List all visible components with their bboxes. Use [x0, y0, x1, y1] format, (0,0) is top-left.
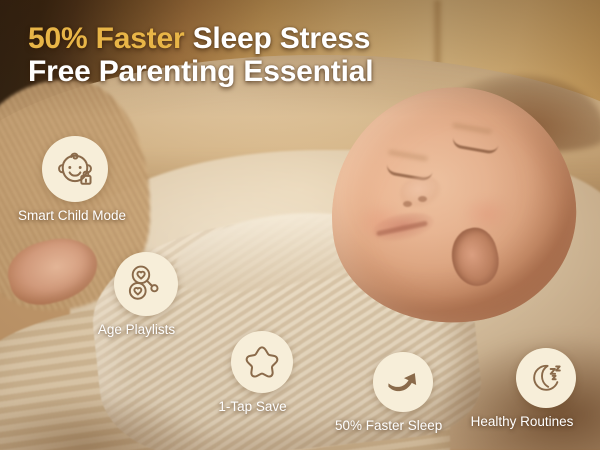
- feature-label: 50% Faster Sleep: [335, 418, 442, 433]
- feature-label: Healthy Routines: [468, 414, 576, 429]
- headline-highlight: 50% Faster: [28, 22, 184, 55]
- product-feature-banner: 50% Faster Sleep Stress Free Parenting E…: [0, 0, 600, 450]
- feature-age-playlists[interactable]: Age Playlists: [95, 252, 178, 337]
- curved-arrow-icon: [383, 362, 423, 402]
- crescent-moon-zzz-icon: [526, 358, 566, 398]
- baby-rattle-heart-icon: [124, 262, 168, 306]
- feature-icon-circle: [114, 252, 178, 316]
- feature-smart-child-mode[interactable]: Smart Child Mode: [18, 136, 126, 223]
- feature-label: 1-Tap Save: [212, 399, 293, 414]
- feature-faster-sleep[interactable]: 50% Faster Sleep: [335, 352, 442, 433]
- baby-face-lock-icon: [52, 146, 98, 192]
- feature-one-tap-save[interactable]: 1-Tap Save: [212, 331, 293, 414]
- headline: 50% Faster Sleep Stress Free Parenting E…: [28, 22, 573, 88]
- baby-nostril-left: [403, 201, 412, 207]
- feature-icon-circle: [373, 352, 433, 412]
- shadow-bottom-left: [0, 390, 240, 450]
- feature-icon-circle: [42, 136, 108, 202]
- feature-label: Age Playlists: [95, 322, 178, 337]
- headline-rest: Sleep Stress: [184, 22, 370, 55]
- headline-line-2: Free Parenting Essential: [28, 55, 573, 88]
- feature-icon-circle: [516, 348, 576, 408]
- feature-icon-circle: [231, 331, 293, 393]
- feature-label: Smart Child Mode: [18, 208, 126, 223]
- rounded-star-icon: [242, 342, 282, 382]
- feature-healthy-routines[interactable]: Healthy Routines: [468, 348, 576, 429]
- baby-nostril-right: [418, 196, 427, 202]
